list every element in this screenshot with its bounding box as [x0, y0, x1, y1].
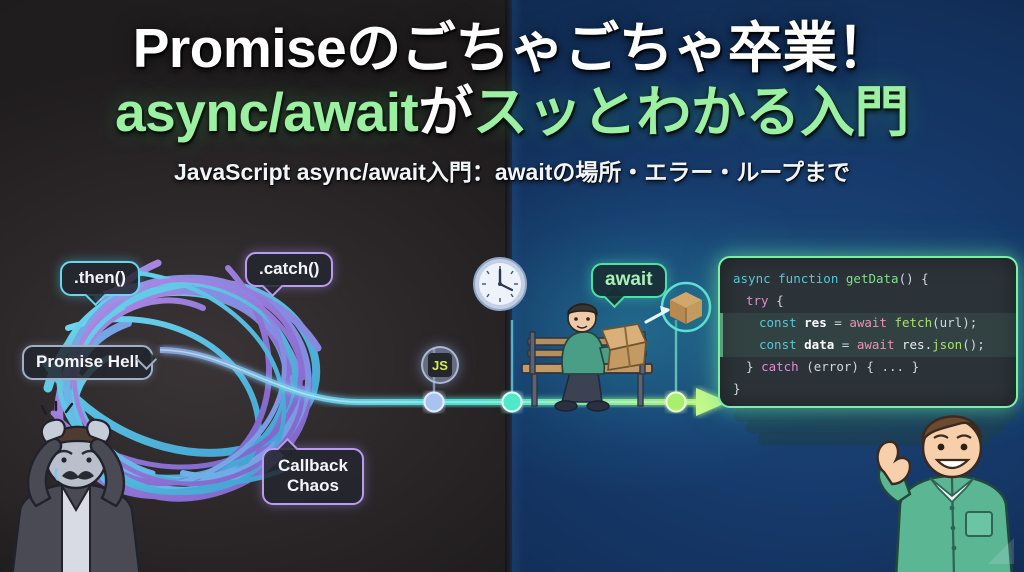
code-token: catch [761, 359, 806, 374]
clock-icon [474, 258, 526, 310]
code-token: } [733, 381, 741, 396]
code-token: await [857, 337, 902, 352]
title-white-particle: が [418, 81, 473, 143]
callback-chaos-label-line1: Callback [278, 456, 348, 476]
thumbnail-canvas: async function getData() {try {const res… [0, 0, 1024, 572]
code-token: function [778, 271, 846, 286]
js-badge-label: JS [428, 353, 452, 377]
catch-callout[interactable]: .catch() [245, 252, 333, 287]
code-body: async function getData() {try {const res… [720, 268, 1016, 400]
code-token: (url); [932, 315, 977, 330]
code-line-4: const data = await res.json(); [720, 334, 1016, 356]
code-snippet-card[interactable]: async function getData() {try {const res… [718, 256, 1018, 408]
code-token: res [804, 315, 827, 330]
code-token: getData [846, 271, 899, 286]
title-green-b: スッとわかる入門 [473, 81, 909, 143]
code-token: await [849, 315, 894, 330]
catch-label: .catch() [259, 259, 319, 278]
code-line-1: async function getData() { [720, 268, 1016, 290]
code-token: const [759, 315, 804, 330]
then-callout[interactable]: .then() [60, 261, 140, 296]
then-label: .then() [74, 268, 126, 287]
code-token: data [804, 337, 834, 352]
code-token: () { [899, 271, 929, 286]
stressed-developer-character [0, 398, 204, 572]
code-token: = [827, 315, 850, 330]
await-callout[interactable]: await [591, 263, 667, 298]
code-token: (error) { ... } [806, 359, 919, 374]
await-label: await [605, 269, 653, 290]
subtitle: JavaScript async/await入門：awaitの場所・エラー・ルー… [0, 153, 1024, 187]
code-token: async [733, 271, 778, 286]
code-token: res. [902, 337, 932, 352]
promise-hell-label: Promise Hell [36, 352, 139, 371]
promise-hell-callout[interactable]: Promise Hell [22, 345, 153, 380]
code-line-3: const res = await fetch(url); [720, 312, 1016, 334]
package-box-icon [662, 283, 710, 331]
code-card-stack: async function getData() {try {const res… [718, 256, 1018, 408]
title-line-2: async/awaitがスッとわかる入門 [0, 82, 1024, 144]
person-on-bench [555, 304, 646, 411]
js-badge-icon[interactable]: JS [421, 346, 459, 384]
callback-chaos-callout[interactable]: Callback Chaos [262, 448, 364, 505]
title-line-1: Promiseのごちゃごちゃ卒業！ [0, 18, 1024, 80]
code-token: json [932, 337, 962, 352]
title-block: Promiseのごちゃごちゃ卒業！ async/awaitがスッとわかる入門 J… [0, 18, 1024, 187]
corner-watermark-icon [984, 534, 1018, 568]
code-line-5: } catch (error) { ... } [720, 356, 1016, 378]
code-token: fetch [894, 315, 932, 330]
code-token: { [776, 293, 784, 308]
code-token: try [746, 293, 776, 308]
code-line-2: try { [720, 290, 1016, 312]
code-token: = [834, 337, 857, 352]
title-green-a: async/await [115, 81, 418, 143]
code-token: const [759, 337, 804, 352]
code-token: } [746, 359, 761, 374]
code-token: (); [962, 337, 985, 352]
callback-chaos-label-line2: Chaos [278, 476, 348, 496]
